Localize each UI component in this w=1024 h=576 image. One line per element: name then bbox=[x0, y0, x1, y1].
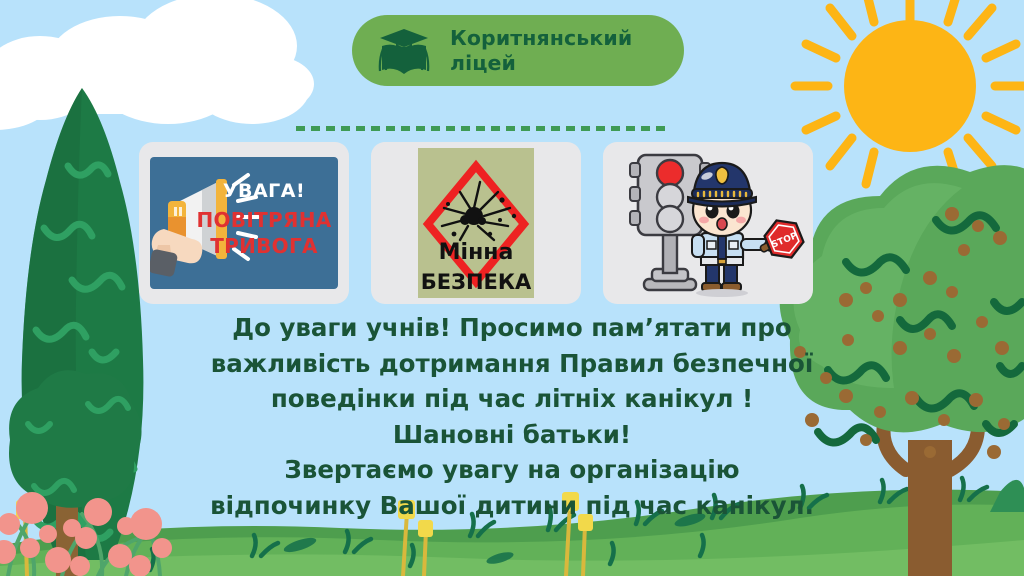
message-line-5: Звертаємо увагу на організацію bbox=[112, 452, 912, 488]
graduation-cap-book-icon bbox=[378, 27, 430, 75]
dashed-divider bbox=[296, 126, 671, 131]
svg-text:Мінна: Мінна bbox=[439, 240, 514, 265]
safety-card-row: УВАГА! ПОВІТРЯНА ТРИВОГА bbox=[139, 142, 813, 304]
card-road-safety[interactable]: STOP bbox=[603, 142, 813, 304]
school-name-badge[interactable]: Коритнянський ліцей bbox=[352, 15, 684, 86]
explosion-hazard-diamond-icon: Мінна БЕЗПЕКА bbox=[418, 148, 534, 298]
card-mine-safety[interactable]: Мінна БЕЗПЕКА bbox=[371, 142, 581, 304]
svg-text:БЕЗПЕКА: БЕЗПЕКА bbox=[421, 270, 532, 294]
message-line-3: поведінки під час літніх канікул ! bbox=[112, 381, 912, 417]
svg-text:ТРИВОГА: ТРИВОГА bbox=[210, 234, 318, 258]
message-line-4: Шановні батьки! bbox=[112, 417, 912, 453]
slide-canvas: Коритнянський ліцей bbox=[0, 0, 1024, 576]
message-line-6: відпочинку Вашої дитини під час канікул. bbox=[112, 488, 912, 524]
traffic-light-policeman-icon: STOP bbox=[608, 147, 808, 299]
message-line-1: До уваги учнів! Просимо пам’ятати про bbox=[112, 310, 912, 346]
megaphone-icon: УВАГА! ПОВІТРЯНА ТРИВОГА bbox=[150, 157, 338, 289]
announcement-text: До уваги учнів! Просимо пам’ятати про ва… bbox=[112, 310, 912, 523]
card-air-raid-alert[interactable]: УВАГА! ПОВІТРЯНА ТРИВОГА bbox=[139, 142, 349, 304]
svg-text:ПОВІТРЯНА: ПОВІТРЯНА bbox=[196, 208, 331, 232]
message-line-2: важливість дотримання Правил безпечної bbox=[112, 346, 912, 382]
school-name-text: Коритнянський ліцей bbox=[450, 26, 632, 76]
svg-text:УВАГА!: УВАГА! bbox=[223, 180, 305, 202]
